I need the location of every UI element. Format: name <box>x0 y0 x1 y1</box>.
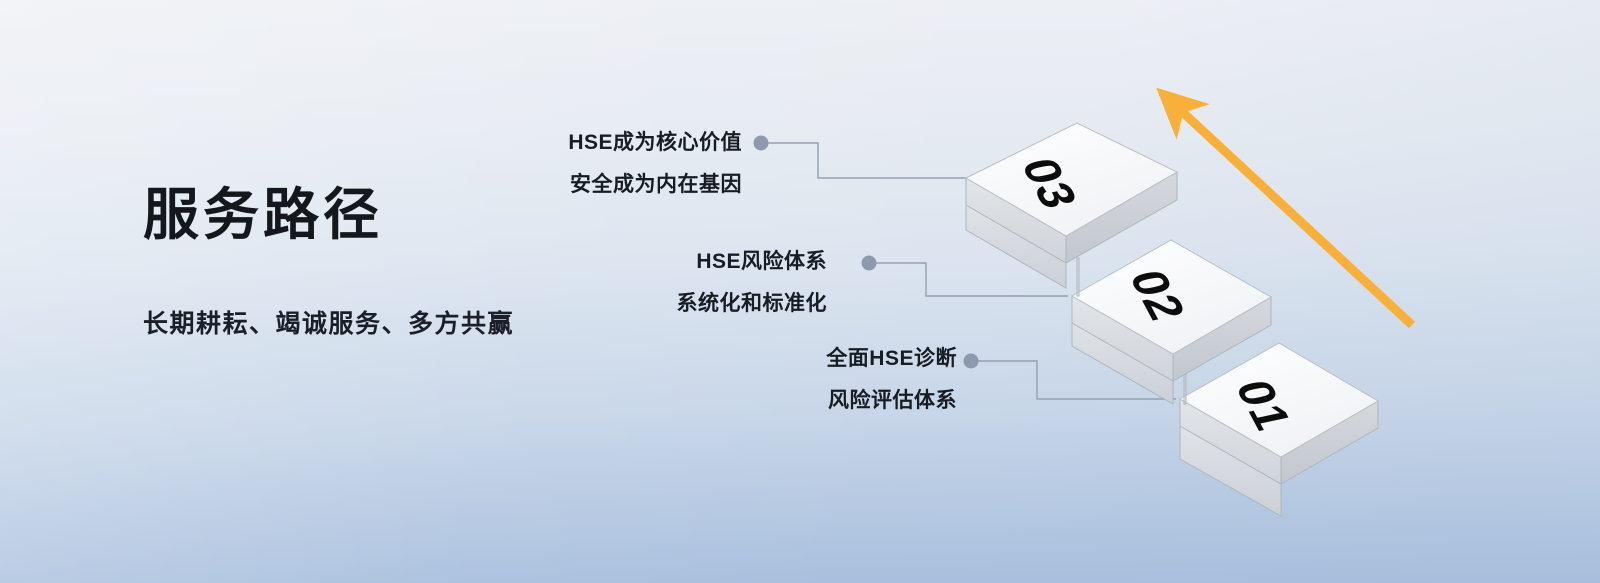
callout-step-01: 全面HSE诊断 风险评估体系 <box>707 348 957 411</box>
callout-step-01-line-2: 风险评估体系 <box>707 390 957 411</box>
page-subtitle: 长期耕耘、竭诚服务、多方共赢 <box>143 245 514 340</box>
callout-step-02: HSE风险体系 系统化和标准化 <box>584 251 827 314</box>
step-block-01 <box>1180 343 1378 516</box>
callout-step-03: HSE成为核心价值 安全成为内在基因 <box>459 132 742 195</box>
connector-dot-step-02 <box>862 256 877 271</box>
callout-step-02-line-1: HSE风险体系 <box>584 251 827 272</box>
callout-step-03-line-1: HSE成为核心价值 <box>459 132 742 153</box>
callout-step-03-line-2: 安全成为内在基因 <box>459 174 742 195</box>
slide-canvas: 服务路径 长期耕耘、竭诚服务、多方共赢 <box>0 0 1600 583</box>
callout-step-01-line-1: 全面HSE诊断 <box>707 348 957 369</box>
callout-step-02-line-2: 系统化和标准化 <box>584 293 827 314</box>
connector-dot-step-01 <box>964 354 979 369</box>
connector-dot-step-03 <box>754 136 769 151</box>
connector-step-03 <box>754 136 967 179</box>
headings-block: 服务路径 长期耕耘、竭诚服务、多方共赢 <box>143 185 514 340</box>
